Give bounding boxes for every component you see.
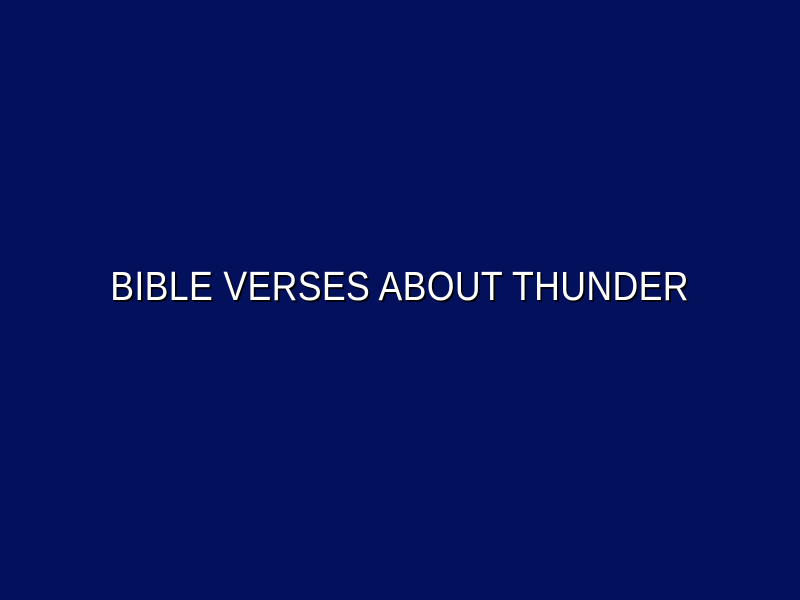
headline-container: BIBLE VERSES ABOUT THUNDER (0, 0, 800, 600)
page-title: BIBLE VERSES ABOUT THUNDER (111, 266, 690, 307)
title-card: BIBLE VERSES ABOUT THUNDER (0, 0, 800, 600)
